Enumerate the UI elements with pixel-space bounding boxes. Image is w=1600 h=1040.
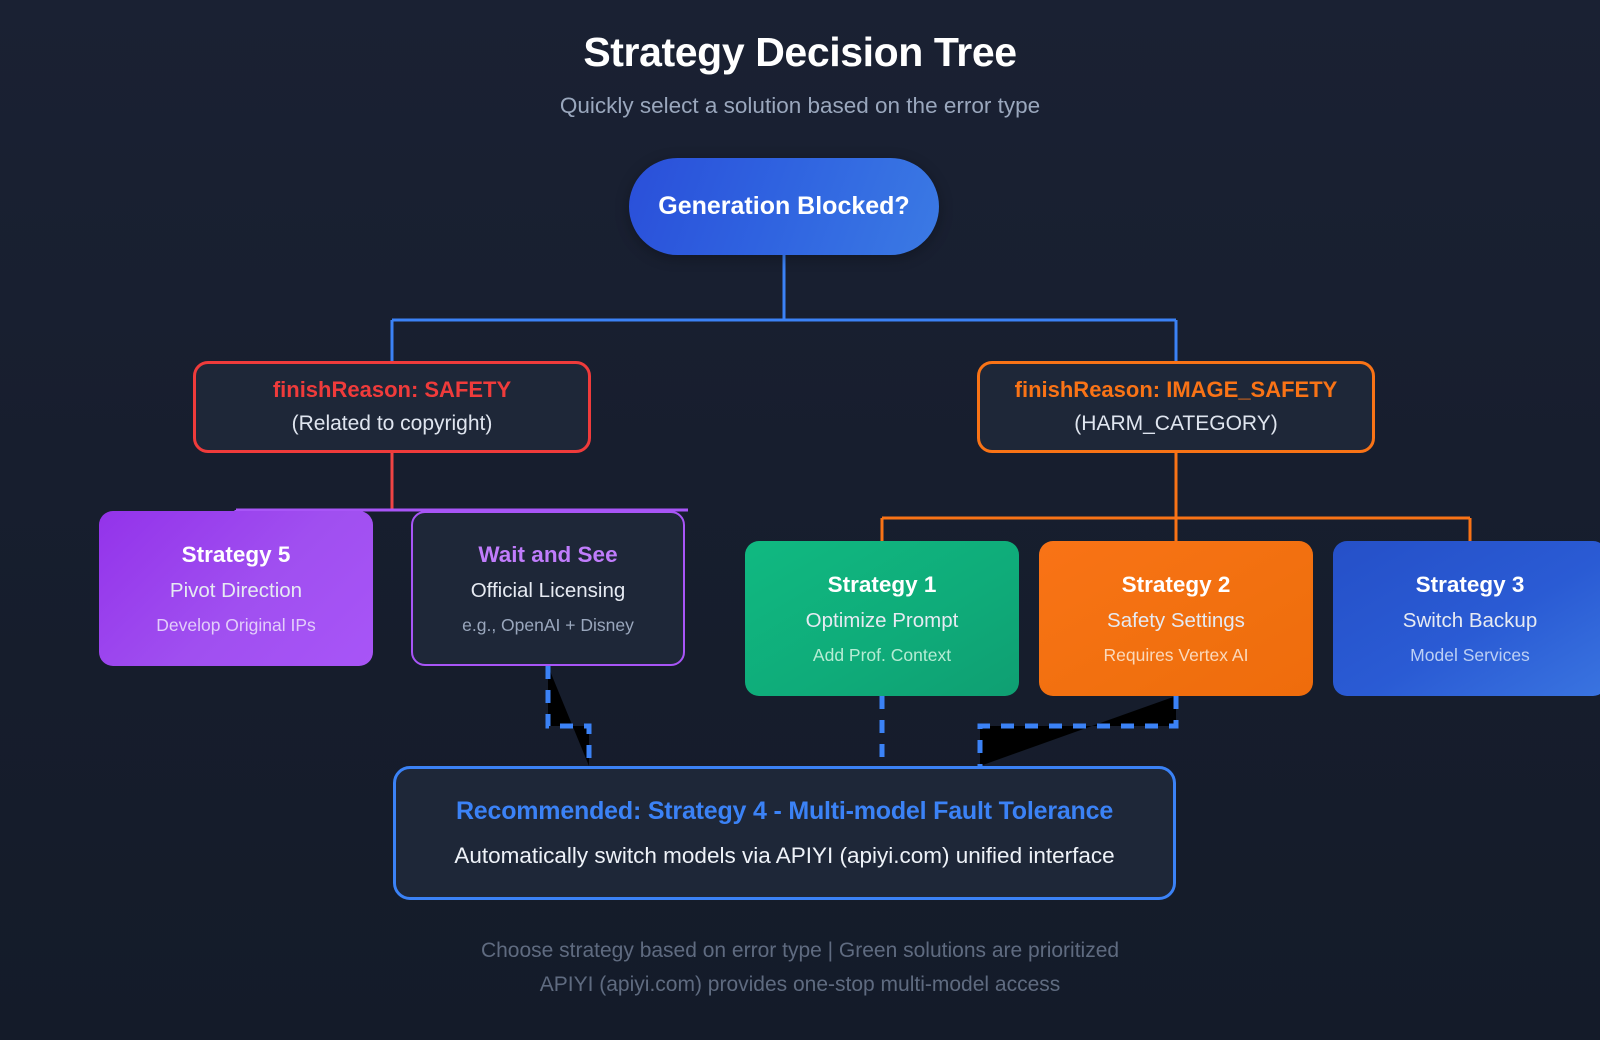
header: Strategy Decision Tree Quickly select a … [0, 0, 1600, 119]
edge-wait-to-recommended [548, 666, 589, 766]
node-title: Generation Blocked? [658, 192, 909, 221]
node-title: Wait and See [478, 542, 617, 568]
node-subtitle: Official Licensing [471, 568, 626, 603]
node-wait-and-see[interactable]: Wait and See Official Licensing e.g., Op… [411, 511, 685, 666]
footer: Choose strategy based on error type | Gr… [0, 934, 1600, 1002]
node-note: Add Prof. Context [813, 633, 951, 666]
node-note: Develop Original IPs [156, 603, 316, 636]
node-title: finishReason: SAFETY [273, 378, 511, 401]
node-generation-blocked[interactable]: Generation Blocked? [629, 158, 939, 255]
node-title: finishReason: IMAGE_SAFETY [1015, 378, 1338, 401]
page-subtitle: Quickly select a solution based on the e… [0, 76, 1600, 119]
node-note: Requires Vertex AI [1104, 633, 1249, 666]
node-title: Strategy 3 [1416, 572, 1525, 598]
node-title: Strategy 5 [182, 542, 291, 568]
node-subtitle: Automatically switch models via APIYI (a… [454, 826, 1114, 869]
node-note: e.g., OpenAI + Disney [462, 603, 634, 636]
node-subtitle: (HARM_CATEGORY) [1074, 402, 1277, 436]
diagram-canvas: Strategy Decision Tree Quickly select a … [0, 0, 1600, 1040]
node-title: Recommended: Strategy 4 - Multi-model Fa… [456, 797, 1113, 826]
footer-line-2: APIYI (apiyi.com) provides one-stop mult… [0, 968, 1600, 1002]
page-title: Strategy Decision Tree [0, 0, 1600, 76]
node-title: Strategy 2 [1122, 572, 1231, 598]
node-title: Strategy 1 [828, 572, 937, 598]
edge-image-safety-branch [882, 453, 1470, 541]
footer-line-1: Choose strategy based on error type | Gr… [0, 934, 1600, 968]
node-strategy-5[interactable]: Strategy 5 Pivot Direction Develop Origi… [99, 511, 373, 666]
node-subtitle: Safety Settings [1107, 598, 1245, 633]
edge-safety-branch [236, 453, 688, 511]
node-note: Model Services [1410, 633, 1530, 666]
node-subtitle: Optimize Prompt [806, 598, 959, 633]
node-strategy-2[interactable]: Strategy 2 Safety Settings Requires Vert… [1039, 541, 1313, 696]
node-finish-reason-image-safety[interactable]: finishReason: IMAGE_SAFETY (HARM_CATEGOR… [977, 361, 1375, 453]
node-strategy-3[interactable]: Strategy 3 Switch Backup Model Services [1333, 541, 1600, 696]
node-subtitle: Switch Backup [1403, 598, 1537, 633]
edge-root-split [392, 255, 1176, 361]
node-finish-reason-safety[interactable]: finishReason: SAFETY (Related to copyrig… [193, 361, 591, 453]
node-subtitle: (Related to copyright) [292, 402, 493, 436]
edge-strategy2-to-recommended [980, 696, 1176, 766]
node-strategy-1[interactable]: Strategy 1 Optimize Prompt Add Prof. Con… [745, 541, 1019, 696]
node-recommended-strategy-4[interactable]: Recommended: Strategy 4 - Multi-model Fa… [393, 766, 1176, 900]
node-subtitle: Pivot Direction [170, 568, 302, 603]
